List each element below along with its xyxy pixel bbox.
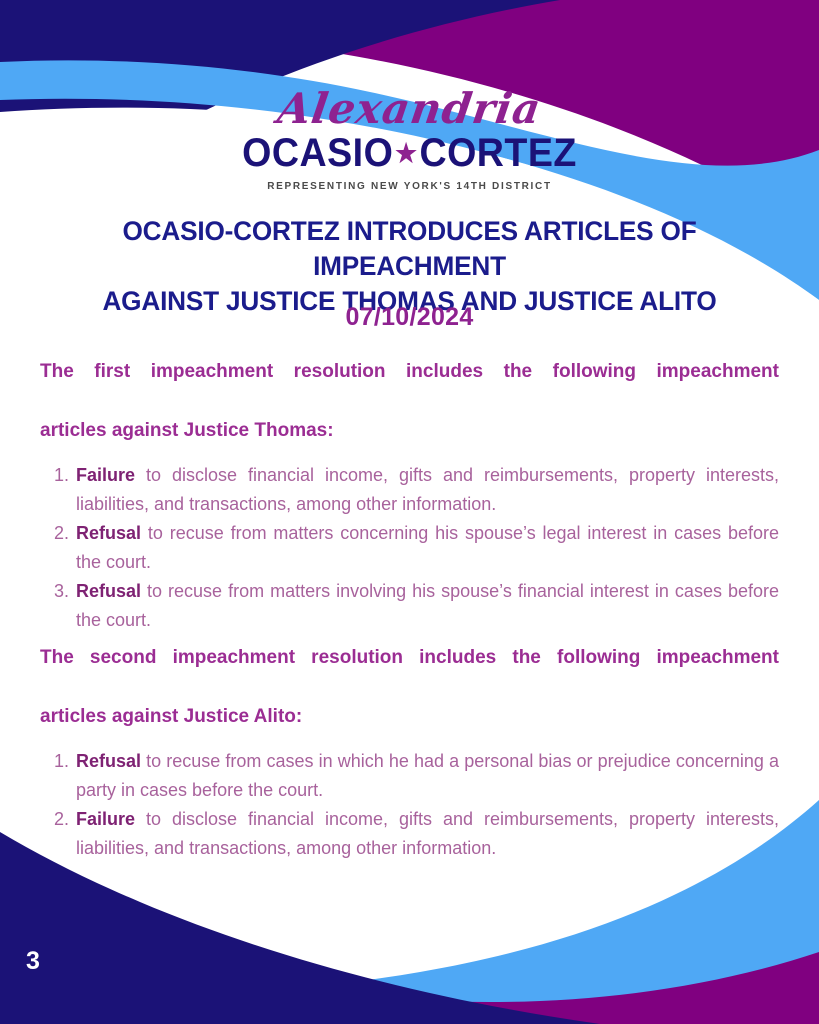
- page-number: 3: [26, 947, 40, 976]
- list-item-text: to recuse from cases in which he had a p…: [76, 751, 779, 799]
- page-title-line-1: OCASIO-CORTEZ INTRODUCES ARTICLES OF IMP…: [51, 214, 768, 284]
- list-item-lead: Refusal: [76, 523, 141, 543]
- articles-list-alito: Refusal to recuse from cases in which he…: [40, 747, 779, 862]
- logo-tagline: REPRESENTING NEW YORK'S 14TH DISTRICT: [0, 181, 819, 192]
- section-thomas-heading-line-1: The first impeachment resolution include…: [40, 357, 779, 416]
- list-item: Failure to disclose financial income, gi…: [40, 461, 779, 518]
- star-separator-icon: ★: [393, 138, 419, 168]
- aoc-logo: Alexandria OCASIO★CORTEZ REPRESENTING NE…: [0, 88, 819, 192]
- list-item-text: to recuse from matters involving his spo…: [76, 581, 779, 629]
- list-item-text: to disclose financial income, gifts and …: [76, 809, 779, 857]
- logo-lastname-ocasio: OCASIO: [242, 131, 393, 175]
- articles-list-thomas: Failure to disclose financial income, gi…: [40, 461, 779, 634]
- list-item-text: to recuse from matters concerning his sp…: [76, 523, 779, 571]
- list-item-lead: Failure: [76, 809, 135, 829]
- section-alito: The second impeachment resolution includ…: [40, 643, 779, 863]
- list-item-lead: Refusal: [76, 581, 141, 601]
- list-item: Refusal to recuse from matters involving…: [40, 577, 779, 634]
- list-item: Refusal to recuse from cases in which he…: [40, 747, 779, 804]
- list-item-lead: Failure: [76, 465, 135, 485]
- list-item-lead: Refusal: [76, 751, 141, 771]
- document-page: Alexandria OCASIO★CORTEZ REPRESENTING NE…: [0, 0, 819, 1024]
- logo-script-firstname: Alexandria: [0, 88, 819, 130]
- list-item-text: to disclose financial income, gifts and …: [76, 465, 779, 513]
- logo-lastname: OCASIO★CORTEZ: [25, 132, 795, 174]
- release-date: 07/10/2024: [0, 303, 819, 332]
- section-alito-heading-line-1: The second impeachment resolution includ…: [40, 643, 779, 702]
- section-thomas-heading: The first impeachment resolution include…: [40, 357, 779, 445]
- section-alito-heading-line-2: articles against Justice Alito:: [40, 702, 779, 731]
- section-thomas-heading-line-2: articles against Justice Thomas:: [40, 416, 779, 445]
- list-item: Failure to disclose financial income, gi…: [40, 805, 779, 862]
- list-item: Refusal to recuse from matters concernin…: [40, 519, 779, 576]
- logo-lastname-cortez: CORTEZ: [419, 131, 576, 175]
- section-thomas: The first impeachment resolution include…: [40, 357, 779, 635]
- section-alito-heading: The second impeachment resolution includ…: [40, 643, 779, 731]
